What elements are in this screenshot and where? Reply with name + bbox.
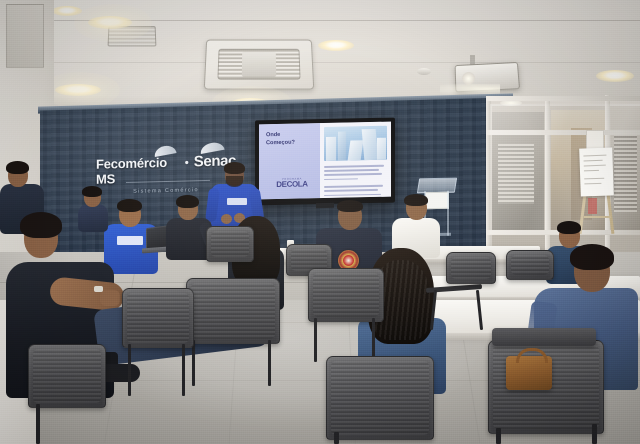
chair-leg xyxy=(36,404,40,444)
tv-screen[interactable]: OndeComeçou? PROGRAMA DECOLA xyxy=(259,122,391,200)
attendee-hair xyxy=(404,194,428,206)
chair-leg xyxy=(334,432,339,444)
handbag[interactable] xyxy=(506,356,552,390)
slide-brand-logo: PROGRAMA DECOLA xyxy=(272,177,312,189)
slide-title: OndeComeçou? xyxy=(266,131,320,147)
chair-seat[interactable] xyxy=(492,328,596,346)
slide-content-panel xyxy=(320,122,391,198)
wall-mounted-tv[interactable]: OndeComeçou? PROGRAMA DECOLA xyxy=(255,118,395,206)
chair-leg xyxy=(592,424,597,444)
attendee-hair xyxy=(557,221,581,234)
mesh-back-chair[interactable] xyxy=(446,252,496,284)
mesh-back-chair[interactable] xyxy=(506,250,554,280)
mesh-back-chair[interactable] xyxy=(28,344,106,408)
mesh-back-chair[interactable] xyxy=(326,356,434,440)
attendee-hair xyxy=(337,200,363,212)
wristwatch xyxy=(94,286,103,292)
chair-leg xyxy=(182,344,185,396)
attendee-hand xyxy=(100,290,120,306)
mesh-back-chair[interactable] xyxy=(308,268,384,322)
attendee-hair xyxy=(82,186,102,197)
light-glow xyxy=(74,4,152,42)
recessed-downlight xyxy=(596,70,634,82)
chair-leg xyxy=(268,340,271,386)
building-shape xyxy=(338,131,346,160)
chair-leg xyxy=(496,428,501,444)
lectern-leg xyxy=(447,191,449,236)
attendee-hair xyxy=(117,199,142,212)
building-shape xyxy=(326,137,336,161)
presenter-hair xyxy=(224,162,245,174)
ac-center-panel xyxy=(242,52,276,77)
slide-body-text xyxy=(324,165,387,196)
attendee-hair xyxy=(176,195,199,208)
recessed-downlight xyxy=(318,40,354,51)
attendee-hair xyxy=(570,244,614,270)
glass-reflection xyxy=(490,104,640,234)
presenter-beard xyxy=(226,176,243,187)
attendee-hair xyxy=(20,212,62,238)
presentation-slide: OndeComeçou? PROGRAMA DECOLA xyxy=(259,122,391,200)
window-mullion xyxy=(486,96,640,101)
building-shape xyxy=(362,129,379,160)
ac-cassette-unit xyxy=(204,40,314,90)
building-shape xyxy=(348,140,364,161)
mesh-back-chair[interactable] xyxy=(186,278,280,344)
emblem-center xyxy=(343,255,354,266)
mesh-back-chair[interactable] xyxy=(122,288,194,348)
slide-building-photo xyxy=(324,126,387,161)
presentation-room-photo: Fecomércio MS • Senac Sistema Comércio O… xyxy=(0,0,640,444)
brand-separator: • xyxy=(185,155,189,169)
smoke-detector-icon xyxy=(417,68,431,75)
slide-title-panel: OndeComeçou? PROGRAMA DECOLA xyxy=(259,123,320,199)
building-shape xyxy=(377,138,386,160)
attendee-hair xyxy=(6,161,29,174)
presenter-shirt-logo xyxy=(227,198,247,205)
chair-leg xyxy=(128,344,131,396)
ceiling-seam xyxy=(0,62,640,63)
projector-light-glow xyxy=(440,84,500,94)
mesh-back-chair[interactable] xyxy=(206,226,254,262)
slide-brand-name: DECOLA xyxy=(272,180,312,189)
wall-access-panel xyxy=(6,4,44,68)
chair-leg xyxy=(314,318,317,362)
